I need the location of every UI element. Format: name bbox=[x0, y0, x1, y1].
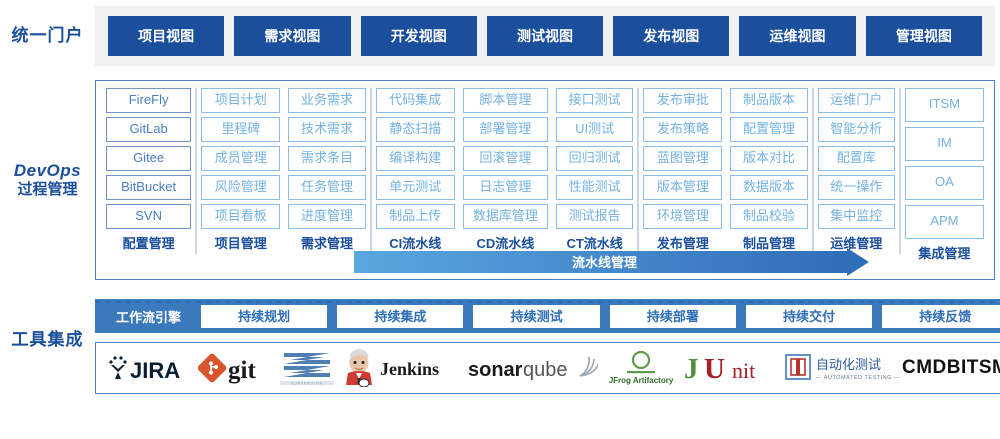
workflow-bar: 工作流引擎 持续规划 持续集成 持续测试 持续部署 持续交付 持续反馈 bbox=[95, 299, 1000, 333]
devops-cell[interactable]: 制品上传 bbox=[376, 204, 455, 229]
devops-cell[interactable]: 智能分析 bbox=[818, 117, 895, 142]
devops-cell[interactable]: APM bbox=[905, 205, 984, 239]
devops-cell[interactable]: 进度管理 bbox=[288, 204, 365, 229]
devops-column: 代码集成静态扫描编译构建单元测试制品上传CI流水线 bbox=[372, 88, 459, 254]
devops-cell[interactable]: 蓝图管理 bbox=[643, 146, 722, 171]
devops-column-cells: 接口测试UI测试回归测试性能测试测试报告 bbox=[556, 88, 633, 234]
devops-cell[interactable]: 日志管理 bbox=[463, 175, 548, 200]
svg-text:自动化测试: 自动化测试 bbox=[816, 357, 881, 372]
portal-button-requirement-view[interactable]: 需求视图 bbox=[234, 16, 350, 56]
devops-cell[interactable]: FireFly bbox=[106, 88, 191, 113]
devops-cell[interactable]: 回归测试 bbox=[556, 146, 633, 171]
devops-column-cells: 运维门户智能分析配置库统一操作集中监控 bbox=[818, 88, 895, 234]
pipeline-arrow: 流水线管理 bbox=[354, 251, 869, 273]
devops-cell[interactable]: 编译构建 bbox=[376, 146, 455, 171]
devops-column-cells: ITSMIMOAAPM bbox=[905, 88, 984, 244]
automated-testing-logo: 自动化测试 — AUTOMATED TESTING — bbox=[784, 347, 902, 389]
svg-text:Jenkins: Jenkins bbox=[380, 359, 439, 379]
devops-cell[interactable]: 制品校验 bbox=[730, 204, 807, 229]
devops-column-cells: 制品版本配置管理版本对比数据版本制品校验 bbox=[730, 88, 807, 234]
devops-cell[interactable]: 制品版本 bbox=[730, 88, 807, 113]
devops-cell[interactable]: 数据库管理 bbox=[463, 204, 548, 229]
devops-cell[interactable]: 环境管理 bbox=[643, 204, 722, 229]
pipeline-arrow-wrapper: 流水线管理 bbox=[354, 251, 869, 275]
devops-rail-label-en: DevOps bbox=[0, 160, 95, 181]
svg-text:SUBVERSION: SUBVERSION bbox=[291, 382, 323, 386]
devops-cell[interactable]: 发布策略 bbox=[643, 117, 722, 142]
devops-process-section: DevOps 过程管理 FireFlyGitLabGiteeBitBucketS… bbox=[0, 72, 1000, 287]
devops-cell[interactable]: 代码集成 bbox=[376, 88, 455, 113]
devops-cell[interactable]: 项目计划 bbox=[201, 88, 280, 113]
portal-button-test-view[interactable]: 测试视图 bbox=[487, 16, 603, 56]
devops-column-footer: 项目管理 bbox=[201, 234, 280, 254]
devops-column-container: FireFlyGitLabGiteeBitBucketSVN配置管理项目计划里程… bbox=[102, 88, 988, 254]
cmdb-logo-text: CMDB bbox=[902, 357, 961, 379]
devops-cell[interactable]: 统一操作 bbox=[818, 175, 895, 200]
devops-column: 制品版本配置管理版本对比数据版本制品校验制品管理 bbox=[726, 88, 813, 254]
junit-logo: J U nit bbox=[684, 347, 784, 389]
git-logo: git bbox=[198, 347, 276, 389]
devops-cell[interactable]: 集中监控 bbox=[818, 204, 895, 229]
devops-rail-label-cn: 过程管理 bbox=[0, 181, 95, 200]
devops-column: 项目计划里程碑成员管理风险管理项目看板项目管理 bbox=[197, 88, 284, 254]
portal-button-project-view[interactable]: 项目视图 bbox=[108, 16, 224, 56]
workflow-item-continuous-delivery[interactable]: 持续交付 bbox=[746, 305, 872, 328]
devops-rail-label: DevOps 过程管理 bbox=[0, 160, 95, 200]
svg-text:J: J bbox=[684, 353, 699, 385]
svg-text:— AUTOMATED TESTING —: — AUTOMATED TESTING — bbox=[816, 375, 900, 381]
devops-column-cells: 业务需求技术需求需求条目任务管理进度管理 bbox=[288, 88, 365, 234]
section-divider bbox=[95, 301, 995, 303]
devops-panel: FireFlyGitLabGiteeBitBucketSVN配置管理项目计划里程… bbox=[95, 80, 995, 280]
devops-cell[interactable]: IM bbox=[905, 127, 984, 161]
svg-text:JIRA: JIRA bbox=[130, 358, 180, 383]
jenkins-logo: Jenkins bbox=[340, 347, 468, 389]
svg-text:git: git bbox=[228, 357, 256, 384]
devops-column-cells: 项目计划里程碑成员管理风险管理项目看板 bbox=[201, 88, 280, 234]
tools-content: 工作流引擎 持续规划 持续集成 持续测试 持续部署 持续交付 持续反馈 JIRA bbox=[95, 299, 1000, 394]
devops-column-cells: FireFlyGitLabGiteeBitBucketSVN bbox=[106, 88, 191, 234]
devops-cell[interactable]: SVN bbox=[106, 204, 191, 229]
devops-cell[interactable]: 发布审批 bbox=[643, 88, 722, 113]
tool-logo-strip: JIRA git bbox=[95, 342, 1000, 394]
portal-button-release-view[interactable]: 发布视图 bbox=[613, 16, 729, 56]
pipeline-arrow-label: 流水线管理 bbox=[572, 252, 637, 271]
devops-cell[interactable]: ITSM bbox=[905, 88, 984, 122]
devops-cell[interactable]: 版本对比 bbox=[730, 146, 807, 171]
devops-cell[interactable]: 回滚管理 bbox=[463, 146, 548, 171]
portal-button-ops-view[interactable]: 运维视图 bbox=[739, 16, 855, 56]
devops-column-footer: 集成管理 bbox=[905, 244, 984, 264]
itsm-logo-text: ITSM bbox=[961, 357, 1000, 379]
devops-cell[interactable]: 运维门户 bbox=[818, 88, 895, 113]
portal-button-bar: 项目视图 需求视图 开发视图 测试视图 发布视图 运维视图 管理视图 bbox=[95, 6, 995, 66]
portal-rail-label: 统一门户 bbox=[0, 25, 95, 46]
devops-cell[interactable]: 成员管理 bbox=[201, 146, 280, 171]
tool-integration-section: 工具集成 工作流引擎 持续规划 持续集成 持续测试 持续部署 持续交付 持续反馈 bbox=[0, 287, 1000, 405]
devops-column-cells: 脚本管理部署管理回滚管理日志管理数据库管理 bbox=[463, 88, 548, 234]
devops-cell[interactable]: Gitee bbox=[106, 146, 191, 171]
svg-text:U: U bbox=[704, 353, 725, 385]
devops-cell[interactable]: GitLab bbox=[106, 117, 191, 142]
workflow-item-continuous-feedback[interactable]: 持续反馈 bbox=[882, 305, 1000, 328]
devops-cell[interactable]: BitBucket bbox=[106, 175, 191, 200]
tools-rail-label: 工具集成 bbox=[0, 329, 95, 350]
workflow-engine-label: 工作流引擎 bbox=[101, 307, 196, 326]
devops-cell[interactable]: UI测试 bbox=[556, 117, 633, 142]
pipeline-arrow-head-icon bbox=[847, 248, 869, 276]
devops-cell[interactable]: 测试报告 bbox=[556, 204, 633, 229]
devops-cell[interactable]: 数据版本 bbox=[730, 175, 807, 200]
devops-column: 发布审批发布策略蓝图管理版本管理环境管理发布管理 bbox=[639, 88, 726, 254]
devops-cell[interactable]: 项目看板 bbox=[201, 204, 280, 229]
portal-button-development-view[interactable]: 开发视图 bbox=[361, 16, 477, 56]
devops-column: FireFlyGitLabGiteeBitBucketSVN配置管理 bbox=[102, 88, 197, 254]
devops-cell[interactable]: 脚本管理 bbox=[463, 88, 548, 113]
devops-column-footer: 配置管理 bbox=[106, 234, 191, 254]
svg-text:nit: nit bbox=[732, 358, 755, 383]
devops-cell[interactable]: 版本管理 bbox=[643, 175, 722, 200]
devops-cell[interactable]: 静态扫描 bbox=[376, 117, 455, 142]
devops-cell[interactable]: 技术需求 bbox=[288, 117, 365, 142]
devops-cell[interactable]: 配置库 bbox=[818, 146, 895, 171]
devops-cell[interactable]: 风险管理 bbox=[201, 175, 280, 200]
workflow-item-continuous-testing[interactable]: 持续测试 bbox=[473, 305, 599, 328]
devops-column: 脚本管理部署管理回滚管理日志管理数据库管理CD流水线 bbox=[459, 88, 552, 254]
svg-text:qube: qube bbox=[523, 359, 568, 381]
svg-text:JFrog Artifactory: JFrog Artifactory bbox=[609, 376, 674, 385]
devops-cell[interactable]: 单元测试 bbox=[376, 175, 455, 200]
devops-column: ITSMIMOAAPM集成管理 bbox=[901, 88, 988, 254]
itsm-logo: ITSM bbox=[961, 347, 1000, 389]
devops-cell[interactable]: 需求条目 bbox=[288, 146, 365, 171]
devops-column: 运维门户智能分析配置库统一操作集中监控运维管理 bbox=[814, 88, 901, 254]
svg-text:sonar: sonar bbox=[468, 359, 523, 381]
devops-cell[interactable]: 配置管理 bbox=[730, 117, 807, 142]
devops-column: 业务需求技术需求需求条目任务管理进度管理需求管理 bbox=[284, 88, 371, 254]
jira-logo: JIRA bbox=[106, 347, 198, 389]
devops-cell[interactable]: 任务管理 bbox=[288, 175, 365, 200]
unified-portal-section: 统一门户 项目视图 需求视图 开发视图 测试视图 发布视图 运维视图 管理视图 bbox=[0, 0, 1000, 72]
workflow-item-continuous-integration[interactable]: 持续集成 bbox=[337, 305, 463, 328]
portal-button-management-view[interactable]: 管理视图 bbox=[866, 16, 982, 56]
devops-cell[interactable]: 业务需求 bbox=[288, 88, 365, 113]
subversion-logo: SUBVERSION bbox=[276, 347, 340, 389]
workflow-item-continuous-planning[interactable]: 持续规划 bbox=[201, 305, 327, 328]
devops-cell[interactable]: 性能测试 bbox=[556, 175, 633, 200]
sonarqube-logo: sonar qube bbox=[468, 347, 598, 389]
devops-cell[interactable]: OA bbox=[905, 166, 984, 200]
devops-column-cells: 发布审批发布策略蓝图管理版本管理环境管理 bbox=[643, 88, 722, 234]
devops-cell[interactable]: 里程碑 bbox=[201, 117, 280, 142]
devops-column: 接口测试UI测试回归测试性能测试测试报告CT流水线 bbox=[552, 88, 639, 254]
jfrog-artifactory-logo: JFrog Artifactory bbox=[598, 347, 684, 389]
devops-column-cells: 代码集成静态扫描编译构建单元测试制品上传 bbox=[376, 88, 455, 234]
workflow-item-continuous-deployment[interactable]: 持续部署 bbox=[610, 305, 736, 328]
cmdb-logo: CMDB bbox=[902, 347, 961, 389]
devops-cell[interactable]: 接口测试 bbox=[556, 88, 633, 113]
devops-cell[interactable]: 部署管理 bbox=[463, 117, 548, 142]
